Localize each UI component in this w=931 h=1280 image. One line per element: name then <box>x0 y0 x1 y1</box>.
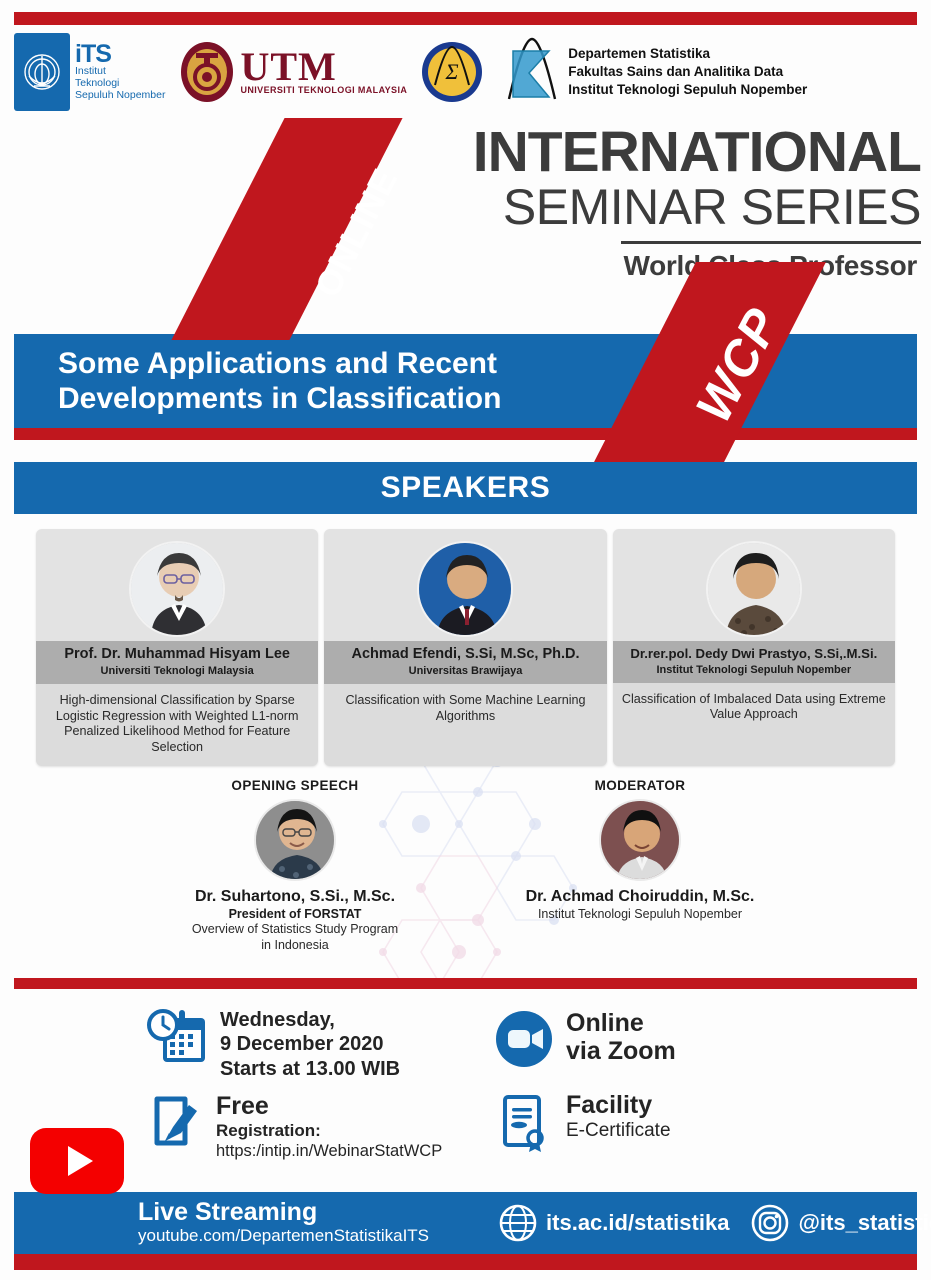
detail-registration-text: Free Registration: https:/intip.in/Webin… <box>216 1093 442 1161</box>
avatar <box>417 541 513 637</box>
youtube-icon[interactable] <box>30 1128 124 1194</box>
sigma-curve-icon <box>503 35 561 109</box>
detail-facility: Facility E-Certificate <box>495 1092 671 1152</box>
youtube-url[interactable]: youtube.com/DepartemenStatistikaITS <box>138 1226 429 1246</box>
moderator-affiliation: Institut Teknologi Sepuluh Nopember <box>490 907 790 922</box>
detail-platform-line2: via Zoom <box>566 1038 676 1066</box>
department-text: Departemen Statistika Fakultas Sains dan… <box>568 45 807 98</box>
opening-speech-topic-line2: in Indonesia <box>145 938 445 953</box>
detail-platform-line1: Online <box>566 1010 676 1038</box>
title-main: INTERNATIONAL <box>360 125 921 180</box>
utm-wordmark: UTM UNIVERSITI TEKNOLOGI MALAYSIA <box>240 49 407 95</box>
svg-text:Σ: Σ <box>445 59 459 84</box>
instagram-text: @its_statistics <box>798 1210 931 1236</box>
speaker-card: Achmad Efendi, S.Si, M.Sc, Ph.D. Univers… <box>324 529 606 766</box>
title-sub: SEMINAR SERIES <box>360 182 921 233</box>
topic-line2: Developments in Classification <box>58 381 501 416</box>
live-streaming-block: Live Streaming youtube.com/DepartemenSta… <box>138 1199 429 1247</box>
speaker-name-bar: Dr.rer.pol. Dedy Dwi Prastyo, S.Si,.M.Si… <box>613 641 895 683</box>
globe-icon <box>499 1204 537 1242</box>
calendar-clock-icon <box>145 1008 207 1066</box>
speaker-affiliation: Institut Teknologi Sepuluh Nopember <box>617 664 891 676</box>
footer-bar: Live Streaming youtube.com/DepartemenSta… <box>14 1192 917 1254</box>
top-red-bar <box>14 12 917 25</box>
detail-platform: Online via Zoom <box>495 1010 676 1068</box>
certificate-icon <box>495 1092 553 1152</box>
live-streaming-title: Live Streaming <box>138 1199 429 1225</box>
its-wordmark: iTS Institut Teknologi Sepuluh Nopember <box>75 43 165 102</box>
detail-facility-label: Facility <box>566 1092 671 1120</box>
department-logo: Departemen Statistika Fakultas Sains dan… <box>503 35 807 109</box>
speaker-name-bar: Prof. Dr. Muhammad Hisyam Lee Universiti… <box>36 641 318 684</box>
speaker-name-bar: Achmad Efendi, S.Si, M.Sc, Ph.D. Univers… <box>324 641 606 684</box>
detail-registration-label: Registration: <box>216 1121 442 1141</box>
bottom-red-bar <box>14 1254 917 1270</box>
avatar <box>129 541 225 637</box>
detail-registration: Free Registration: https:/intip.in/Webin… <box>145 1093 442 1161</box>
instagram-link[interactable]: @its_statistics <box>751 1204 931 1242</box>
forstat-logo-icon: Σ <box>421 41 483 103</box>
speaker-topic: Classification with Some Machine Learnin… <box>324 684 606 766</box>
utm-abbr: UTM <box>240 49 407 85</box>
topic-red-underbar <box>14 428 917 440</box>
utm-emblem-icon <box>179 41 235 103</box>
utm-full-name: UNIVERSITI TEKNOLOGI MALAYSIA <box>240 85 407 95</box>
opening-speech-block: OPENING SPEECH Dr. Suharto <box>145 778 445 953</box>
detail-registration-url[interactable]: https:/intip.in/WebinarStatWCP <box>216 1141 442 1162</box>
detail-facility-text: Facility E-Certificate <box>566 1092 671 1142</box>
detail-facility-value: E-Certificate <box>566 1120 671 1143</box>
detail-day: Wednesday, <box>220 1008 400 1032</box>
speaker-photo-area <box>36 529 318 641</box>
instagram-icon <box>751 1204 789 1242</box>
topic-text: Some Applications and Recent Development… <box>14 346 501 416</box>
detail-date: Wednesday, 9 December 2020 Starts at 13.… <box>145 1008 400 1081</box>
detail-date-value: 9 December 2020 <box>220 1032 400 1056</box>
speaker-topic: High-dimensional Classification by Spars… <box>36 684 318 766</box>
department-line3: Institut Teknologi Sepuluh Nopember <box>568 81 807 99</box>
speaker-photo-area <box>324 529 606 641</box>
detail-time: Starts at 13.00 WIB <box>220 1057 400 1081</box>
department-line2: Fakultas Sains dan Analitika Data <box>568 63 807 81</box>
opening-speech-topic-line1: Overview of Statistics Study Program <box>145 922 445 937</box>
speaker-name: Dr.rer.pol. Dedy Dwi Prastyo, S.Si,.M.Si… <box>617 647 891 662</box>
speaker-list: Prof. Dr. Muhammad Hisyam Lee Universiti… <box>36 529 895 766</box>
moderator-role: MODERATOR <box>490 778 790 793</box>
website-link[interactable]: its.ac.id/statistika <box>499 1204 729 1242</box>
play-triangle-icon <box>68 1146 93 1176</box>
its-shield-icon <box>14 33 70 111</box>
speaker-affiliation: Universiti Teknologi Malaysia <box>40 665 314 677</box>
zoom-video-icon <box>495 1010 553 1068</box>
moderator-block: MODERATOR Dr. Achmad Choiruddin, M.Sc. I… <box>490 778 790 922</box>
avatar <box>706 541 802 637</box>
opening-speech-name: Dr. Suhartono, S.Si., M.Sc. <box>145 888 445 906</box>
speaker-topic: Classification of Imbalaced Data using E… <box>613 683 895 767</box>
speaker-name: Prof. Dr. Muhammad Hisyam Lee <box>40 647 314 663</box>
moderator-name: Dr. Achmad Choiruddin, M.Sc. <box>490 888 790 906</box>
detail-platform-text: Online via Zoom <box>566 1010 676 1065</box>
speaker-name: Achmad Efendi, S.Si, M.Sc, Ph.D. <box>328 647 602 663</box>
avatar <box>599 799 681 881</box>
speaker-card: Prof. Dr. Muhammad Hisyam Lee Universiti… <box>36 529 318 766</box>
website-text: its.ac.id/statistika <box>546 1210 729 1236</box>
avatar <box>254 799 336 881</box>
detail-price: Free <box>216 1093 442 1121</box>
speakers-heading-band: SPEAKERS <box>14 462 917 514</box>
department-line1: Departemen Statistika <box>568 45 807 63</box>
event-details: Wednesday, 9 December 2020 Starts at 13.… <box>0 1000 931 1170</box>
its-line2: Teknologi <box>75 78 165 90</box>
utm-logo: UTM UNIVERSITI TEKNOLOGI MALAYSIA <box>179 41 407 103</box>
its-logo: iTS Institut Teknologi Sepuluh Nopember <box>14 33 165 111</box>
detail-date-text: Wednesday, 9 December 2020 Starts at 13.… <box>220 1008 400 1081</box>
its-abbr: iTS <box>75 43 165 67</box>
poster-root: iTS Institut Teknologi Sepuluh Nopember … <box>0 0 931 1280</box>
logo-header: iTS Institut Teknologi Sepuluh Nopember … <box>0 26 931 118</box>
speaker-affiliation: Universitas Brawijaya <box>328 665 602 677</box>
its-line3: Sepuluh Nopember <box>75 90 165 102</box>
people-row: OPENING SPEECH Dr. Suharto <box>0 778 931 973</box>
topic-line1: Some Applications and Recent <box>58 346 501 381</box>
speaker-card: Dr.rer.pol. Dedy Dwi Prastyo, S.Si,.M.Si… <box>613 529 895 766</box>
speaker-photo-area <box>613 529 895 641</box>
register-pencil-icon <box>145 1093 203 1151</box>
opening-speech-role: OPENING SPEECH <box>145 778 445 793</box>
title-tagline: World Class Professor <box>360 250 921 282</box>
details-red-divider <box>14 978 917 989</box>
title-block: INTERNATIONAL SEMINAR SERIES World Class… <box>360 125 921 282</box>
title-divider <box>621 241 921 244</box>
opening-speech-position: President of FORSTAT <box>145 907 445 921</box>
speakers-heading: SPEAKERS <box>381 471 551 505</box>
